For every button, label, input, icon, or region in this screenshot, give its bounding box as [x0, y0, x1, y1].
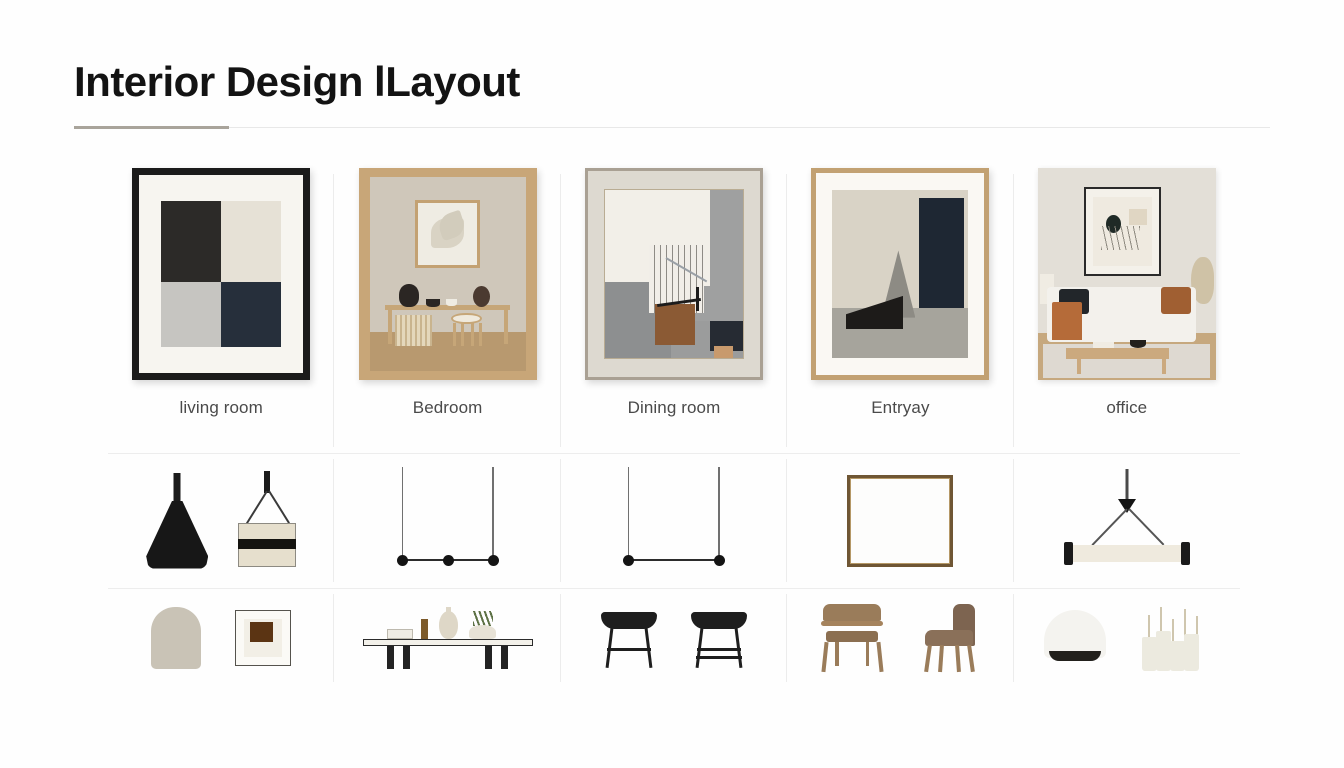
pendant-cord-right — [492, 467, 494, 559]
grid-cell-dining-room-objects[interactable] — [561, 588, 787, 688]
photo-coffee-table — [1066, 348, 1169, 359]
pendant-canopy — [1118, 499, 1136, 513]
item-row — [787, 453, 1013, 588]
scene-table-leg-right — [504, 305, 508, 344]
photo-art-tan-block — [1129, 209, 1147, 224]
table-leg-right-2 — [501, 646, 508, 669]
block-navy — [221, 282, 281, 347]
hanging-panel-light-icon[interactable] — [238, 471, 296, 571]
photo-books — [1093, 342, 1114, 348]
chair-leg-back-2 — [955, 645, 960, 672]
grid-cell-living-room-lighting[interactable] — [108, 453, 334, 588]
photo-scene — [1038, 168, 1216, 380]
table-vase — [439, 611, 458, 639]
photo-throw-blanket — [1052, 302, 1082, 340]
chair-leg-back — [967, 645, 974, 672]
canvas-wood-box — [655, 304, 695, 344]
bud-vase-4 — [1184, 634, 1199, 671]
grid-cell-office[interactable]: office — [1014, 168, 1240, 453]
row-divider — [1014, 588, 1240, 589]
row-divider — [334, 588, 560, 589]
cell-label-living-room: living room — [180, 398, 263, 418]
pendant-cord-left — [402, 467, 404, 559]
bud-vase-2 — [1156, 631, 1171, 671]
chair-leg-front-left — [822, 642, 829, 672]
row-divider — [334, 453, 560, 454]
scene-skirted-table — [395, 315, 432, 346]
art-frame — [132, 168, 310, 380]
pendant-cord-right — [718, 467, 720, 559]
bud-vase-1 — [1142, 637, 1157, 671]
photo-art-strokes — [1101, 226, 1140, 250]
scene-round-vase — [473, 286, 490, 307]
pendant-light-3 — [488, 555, 499, 566]
page-header: Interior Design lLayout — [74, 58, 1270, 129]
interior-design-layout-page: Interior Design lLayout — [0, 0, 1344, 768]
row-divider — [787, 588, 1013, 589]
grid-cell-bedroom[interactable]: Bedroom — [334, 168, 560, 453]
mini-frame-canvas — [244, 619, 282, 657]
chair-leg-mid — [938, 645, 943, 672]
layout-grid: living room — [108, 168, 1240, 688]
framed-geometric-shapes-art[interactable] — [811, 168, 989, 380]
reed-stem-3 — [1172, 619, 1174, 641]
block-cream — [221, 201, 281, 282]
wooden-armchair-front-icon[interactable] — [819, 604, 885, 672]
art-mat — [139, 175, 303, 373]
grid-cell-entryay-objects[interactable] — [787, 588, 1013, 688]
scene-stool-legs — [452, 323, 480, 346]
cell-label-dining-room: Dining room — [628, 398, 721, 418]
linear-tube-pendant-icon[interactable] — [1062, 469, 1192, 573]
bud-vase-3 — [1170, 641, 1185, 671]
item-row — [1014, 453, 1240, 588]
pendant-light-2 — [443, 555, 454, 566]
stool-rung-upper — [697, 648, 741, 651]
shadowbox-interior — [370, 177, 526, 371]
scene-black-vase — [399, 284, 419, 307]
pendant-shade — [146, 501, 208, 569]
block-light-gray — [161, 282, 221, 347]
grid-cell-living-room[interactable]: living room — [108, 168, 334, 453]
table-leg-left-2 — [403, 646, 410, 669]
art-frame — [811, 168, 989, 380]
panel-stem — [264, 471, 270, 493]
dome-interior — [1049, 651, 1101, 661]
scene-table-leg-left — [388, 305, 392, 344]
wooden-armchair-side-icon[interactable] — [919, 604, 981, 672]
cone-pendant-lamp-icon[interactable] — [146, 473, 208, 569]
chair-seat — [826, 631, 878, 642]
art-mat — [816, 173, 984, 375]
pendant-tube-diffuser — [1068, 545, 1186, 562]
photo-framed-art — [1084, 187, 1161, 276]
divider-accent-bar — [74, 126, 229, 129]
art-canvas — [832, 190, 968, 358]
item-row — [108, 588, 334, 688]
row-divider — [561, 588, 787, 589]
art-frame — [585, 168, 763, 380]
item-row — [1014, 588, 1240, 688]
table-leg-right — [485, 646, 492, 669]
item-row — [787, 588, 1013, 688]
title-divider — [74, 126, 1270, 129]
reed-bud-vase-cluster-icon[interactable] — [1140, 605, 1210, 671]
item-row — [334, 588, 560, 688]
pendant-cord — [1125, 469, 1128, 501]
grid-cell-dining-room[interactable]: Dining room — [561, 168, 787, 453]
cell-label-entryay: Entryay — [871, 398, 929, 418]
black-stool-right-icon[interactable] — [691, 608, 747, 668]
chair-armrest — [821, 621, 883, 626]
shape-navy-rectangle — [919, 198, 964, 307]
row-divider — [1014, 453, 1240, 454]
cell-label-office: office — [1106, 398, 1147, 418]
pendant-cap-right — [1181, 542, 1190, 565]
grid-cell-entryay-mirror[interactable] — [787, 453, 1013, 588]
pendant-bar — [624, 559, 724, 562]
page-title: Interior Design lLayout — [74, 58, 1270, 106]
item-row — [108, 453, 334, 588]
pendant-rod — [174, 473, 181, 505]
panel-stripe — [238, 539, 296, 549]
pendant-light-1 — [623, 555, 634, 566]
block-dark-charcoal — [161, 201, 221, 282]
art-mat — [588, 171, 760, 377]
row-divider — [108, 453, 334, 454]
scene-floor — [370, 332, 526, 371]
grid-cell-dining-room-lighting[interactable] — [561, 453, 787, 588]
pendant-wire-left — [1091, 508, 1127, 545]
stool-seat — [691, 612, 747, 629]
grid-cell-bedroom-lighting[interactable] — [334, 453, 560, 588]
stool-rung — [607, 648, 651, 651]
table-leg-left — [387, 646, 394, 669]
row-divider — [108, 588, 334, 589]
stone-dome-vase-icon[interactable] — [151, 607, 201, 669]
table-plant — [473, 611, 493, 626]
pendant-light-2 — [714, 555, 725, 566]
item-row — [334, 453, 560, 588]
mini-frame-brown-square — [250, 622, 274, 642]
row-divider — [787, 453, 1013, 454]
grid-cell-bedroom-objects[interactable] — [334, 588, 560, 688]
scene-cup — [446, 299, 457, 306]
white-dome-pendant-lamp-icon[interactable] — [1044, 610, 1106, 666]
item-row — [561, 588, 787, 688]
grid-cell-living-room-objects[interactable] — [108, 588, 334, 688]
pendant-cord-left — [628, 467, 630, 559]
grid-cell-office-objects[interactable] — [1014, 588, 1240, 688]
grid-cell-office-lighting[interactable] — [1014, 453, 1240, 588]
pendant-cap-left — [1064, 542, 1073, 565]
chair-leg-back-right — [866, 642, 870, 666]
chair-leg-back-left — [835, 642, 839, 666]
mini-framed-artwork-icon[interactable] — [235, 610, 291, 666]
photo-table-leg-left — [1077, 355, 1081, 374]
low-console-table-with-decor-icon[interactable] — [363, 607, 533, 669]
cell-label-bedroom: Bedroom — [413, 398, 483, 418]
art-blocks — [161, 201, 281, 347]
scene-wall-art — [415, 200, 481, 268]
square-wood-mirror-frame-icon[interactable] — [847, 475, 953, 567]
stool-rung-lower — [696, 656, 742, 659]
scene-bowl — [426, 299, 440, 307]
linear-pendant-three-lights-icon[interactable] — [394, 467, 502, 575]
chair-leg-front — [925, 645, 932, 672]
item-row — [561, 453, 787, 588]
divider-line — [74, 127, 1270, 128]
table-books — [387, 629, 413, 639]
chair-backrest — [823, 604, 881, 621]
row-divider — [561, 453, 787, 454]
photo-art-canvas — [1093, 197, 1153, 267]
framed-staircase-abstract-art[interactable] — [585, 168, 763, 380]
stool-seat — [601, 612, 657, 629]
pendant-wire-right — [1128, 508, 1164, 545]
panel-wire-left — [246, 490, 267, 523]
table-top — [363, 639, 533, 646]
photo-table-leg-right — [1162, 355, 1166, 374]
black-stool-left-icon[interactable] — [601, 608, 657, 668]
canvas-post — [696, 287, 699, 311]
photo-rust-cushion — [1161, 287, 1191, 315]
shadowbox-frame — [359, 168, 537, 380]
wooden-shadowbox-room-scene[interactable] — [359, 168, 537, 380]
pendant-light-1 — [397, 555, 408, 566]
canvas-tan-block — [714, 346, 733, 358]
table-standing-book — [421, 619, 428, 639]
framed-abstract-grid-art[interactable] — [132, 168, 310, 380]
living-room-interior-photo[interactable] — [1038, 168, 1216, 380]
chair-seat — [925, 630, 973, 646]
art-canvas — [604, 189, 744, 359]
linear-pendant-two-lights-icon[interactable] — [620, 467, 728, 575]
grid-cell-entryay[interactable]: Entryay — [787, 168, 1013, 453]
panel-wire-right — [268, 490, 289, 523]
chair-leg-front-right — [876, 642, 883, 672]
table-planter — [469, 625, 496, 639]
